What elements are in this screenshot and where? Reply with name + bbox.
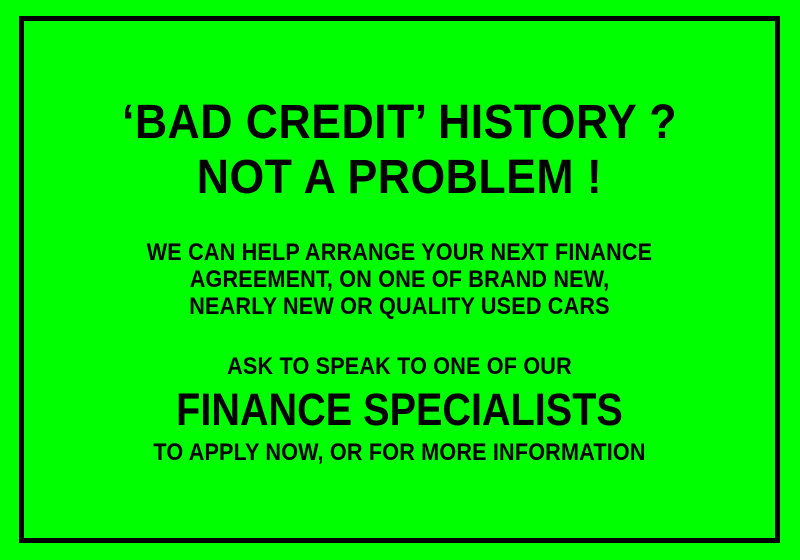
body-line-2: AGREEMENT, ON ONE OF BRAND NEW, xyxy=(62,266,738,293)
poster-content: ‘BAD CREDIT’ HISTORY ? NOT A PROBLEM ! W… xyxy=(24,21,775,538)
body-line-3: NEARLY NEW OR QUALITY USED CARS xyxy=(62,293,738,320)
call-to-action-block: ASK TO SPEAK TO ONE OF OUR FINANCE SPECI… xyxy=(24,352,775,468)
finance-specialists-line: FINANCE SPECIALISTS xyxy=(69,382,730,438)
headline-line-2: NOT A PROBLEM ! xyxy=(50,150,748,205)
body-paragraph-block: WE CAN HELP ARRANGE YOUR NEXT FINANCE AG… xyxy=(24,239,775,320)
advertisement-poster: ‘BAD CREDIT’ HISTORY ? NOT A PROBLEM ! W… xyxy=(0,0,800,560)
headline-line-1: ‘BAD CREDIT’ HISTORY ? xyxy=(50,95,748,150)
headline-block: ‘BAD CREDIT’ HISTORY ? NOT A PROBLEM ! xyxy=(24,95,775,205)
ask-to-speak-line: ASK TO SPEAK TO ONE OF OUR xyxy=(62,352,738,382)
apply-now-line: TO APPLY NOW, OR FOR MORE INFORMATION xyxy=(62,438,738,468)
body-line-1: WE CAN HELP ARRANGE YOUR NEXT FINANCE xyxy=(62,239,738,266)
